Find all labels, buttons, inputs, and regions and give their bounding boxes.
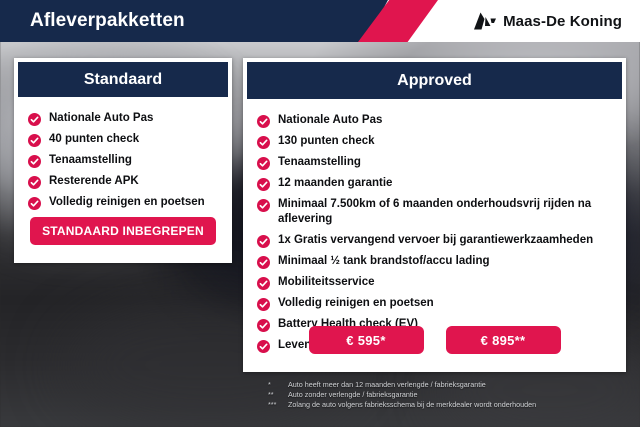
check-circle-icon — [257, 256, 270, 269]
standaard-inbegrepen-button[interactable]: STANDAARD INBEGREPEN — [30, 217, 216, 245]
feature-label: 1x Gratis vervangend vervoer bij garanti… — [278, 233, 593, 248]
footnote-item: * Auto heeft meer dan 12 maanden verleng… — [268, 380, 628, 390]
feature-label: Minimaal 7.500km of 6 maanden onderhouds… — [278, 197, 626, 227]
feature-label: 40 punten check — [49, 132, 139, 147]
footnote-text: Auto heeft meer dan 12 maanden verlengde… — [288, 380, 628, 390]
header-bar: Afleverpakketten Maas-De Koning — [0, 0, 640, 42]
feature-label: 130 punten check — [278, 134, 375, 149]
check-circle-icon — [28, 155, 41, 168]
list-item: Nationale Auto Pas — [28, 111, 232, 126]
check-circle-icon — [28, 176, 41, 189]
card-title-approved: Approved — [247, 62, 622, 99]
check-circle-icon — [257, 277, 270, 290]
list-item: Volledig reinigen en poetsen — [257, 296, 626, 311]
card-title-standaard: Standaard — [18, 62, 228, 97]
footnote-text: Zolang de auto volgens fabrieksschema bi… — [288, 400, 628, 410]
feature-label: Nationale Auto Pas — [278, 113, 382, 128]
footnote-marker: * — [268, 380, 282, 390]
package-card-standaard: Standaard Nationale Auto Pas 40 punten c… — [14, 58, 232, 263]
feature-label: 12 maanden garantie — [278, 176, 392, 191]
list-item: 12 maanden garantie — [257, 176, 626, 191]
list-item: 130 punten check — [257, 134, 626, 149]
list-item: Tenaamstelling — [28, 153, 232, 168]
check-circle-icon — [257, 115, 270, 128]
list-item: 1x Gratis vervangend vervoer bij garanti… — [257, 233, 626, 248]
check-circle-icon — [257, 157, 270, 170]
footnote-text: Auto zonder verlengde / fabrieksgarantie — [288, 390, 628, 400]
list-item: Tenaamstelling — [257, 155, 626, 170]
list-item: Minimaal 7.500km of 6 maanden onderhouds… — [257, 197, 626, 227]
check-circle-icon — [257, 136, 270, 149]
price-button-595[interactable]: € 595* — [309, 326, 424, 354]
price-button-row: € 595* € 895** — [243, 326, 626, 354]
check-circle-icon — [28, 197, 41, 210]
feature-label: Mobiliteitsservice — [278, 275, 375, 290]
feature-label: Tenaamstelling — [49, 153, 132, 168]
list-item: 40 punten check — [28, 132, 232, 147]
list-item: Nationale Auto Pas — [257, 113, 626, 128]
check-circle-icon — [257, 235, 270, 248]
list-item: Mobiliteitsservice — [257, 275, 626, 290]
brand-logo: Maas-De Koning — [474, 0, 622, 42]
check-circle-icon — [257, 298, 270, 311]
feature-label: Minimaal ½ tank brandstof/accu lading — [278, 254, 490, 269]
maas-m-logo-icon — [474, 12, 496, 30]
list-item: Resterende APK — [28, 174, 232, 189]
footnote-list: * Auto heeft meer dan 12 maanden verleng… — [268, 380, 628, 410]
promo-slide: Afleverpakketten Maas-De Koning Standaar… — [0, 0, 640, 427]
feature-label: Volledig reinigen en poetsen — [49, 195, 205, 210]
footnote-marker: ** — [268, 390, 282, 400]
brand-name: Maas-De Koning — [503, 13, 622, 30]
feature-label: Tenaamstelling — [278, 155, 361, 170]
page-title: Afleverpakketten — [30, 0, 185, 42]
footnote-item: *** Zolang de auto volgens fabrieksschem… — [268, 400, 628, 410]
package-card-approved: Approved Nationale Auto Pas 130 punten c… — [243, 58, 626, 372]
check-circle-icon — [257, 178, 270, 191]
feature-label: Volledig reinigen en poetsen — [278, 296, 434, 311]
feature-label: Resterende APK — [49, 174, 139, 189]
check-circle-icon — [257, 199, 270, 212]
list-item: Minimaal ½ tank brandstof/accu lading — [257, 254, 626, 269]
feature-label: Nationale Auto Pas — [49, 111, 153, 126]
feature-list-standaard: Nationale Auto Pas 40 punten check Tenaa… — [14, 97, 232, 210]
footnote-item: ** Auto zonder verlengde / fabrieksgaran… — [268, 390, 628, 400]
footnote-marker: *** — [268, 400, 282, 410]
feature-list-approved: Nationale Auto Pas 130 punten check Tena… — [243, 99, 626, 353]
check-circle-icon — [28, 134, 41, 147]
check-circle-icon — [28, 113, 41, 126]
list-item: Volledig reinigen en poetsen — [28, 195, 232, 210]
price-button-895[interactable]: € 895** — [446, 326, 561, 354]
